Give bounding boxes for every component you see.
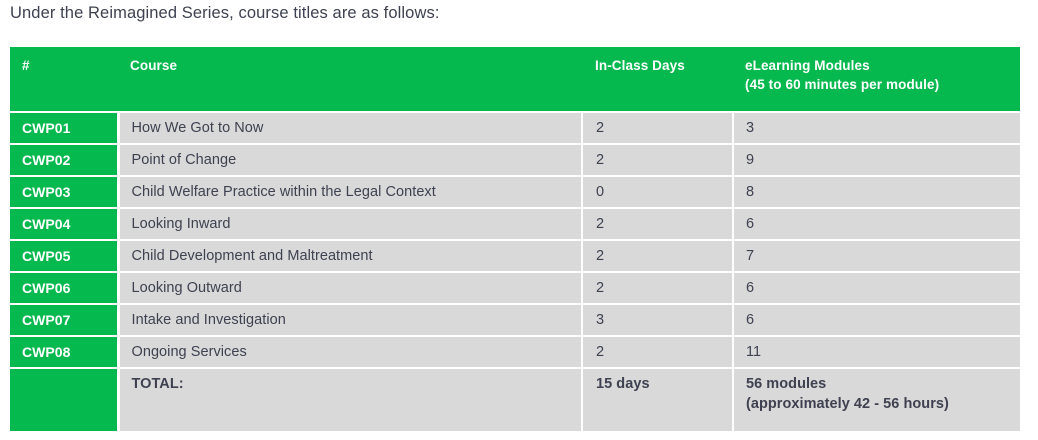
table-row: CWP08 Ongoing Services 2 11	[10, 336, 1020, 368]
column-header-elearning-line2: (45 to 60 minutes per module)	[745, 77, 939, 92]
cell-course-code: CWP03	[10, 176, 118, 208]
cell-course-code: CWP01	[10, 112, 118, 144]
cell-in-class-days: 2	[582, 144, 733, 176]
table-row: CWP06 Looking Outward 2 6	[10, 272, 1020, 304]
course-table: # Course In-Class Days eLearning Modules…	[10, 47, 1020, 431]
cell-course-code: CWP04	[10, 208, 118, 240]
column-header-elearning-modules: eLearning Modules (45 to 60 minutes per …	[733, 47, 1020, 112]
table-total-row: TOTAL: 15 days 56 modules (approximately…	[10, 368, 1020, 431]
cell-course-code: CWP06	[10, 272, 118, 304]
intro-paragraph: Under the Reimagined Series, course titl…	[10, 0, 440, 26]
column-header-elearning-line1: eLearning Modules	[745, 58, 870, 73]
page-root: Under the Reimagined Series, course titl…	[0, 0, 1038, 440]
cell-elearning-modules: 8	[733, 176, 1020, 208]
cell-in-class-days: 3	[582, 304, 733, 336]
cell-total-elearning-modules: 56 modules (approximately 42 - 56 hours)	[733, 368, 1020, 431]
cell-elearning-modules: 9	[733, 144, 1020, 176]
table-header: # Course In-Class Days eLearning Modules…	[10, 47, 1020, 112]
cell-course-code: CWP02	[10, 144, 118, 176]
table-body: CWP01 How We Got to Now 2 3 CWP02 Point …	[10, 112, 1020, 431]
column-header-in-class-days: In-Class Days	[582, 47, 733, 112]
cell-in-class-days: 2	[582, 208, 733, 240]
cell-total-label: TOTAL:	[118, 368, 582, 431]
table-header-row: # Course In-Class Days eLearning Modules…	[10, 47, 1020, 112]
cell-total-code-empty	[10, 368, 118, 431]
total-modules-count: 56 modules	[746, 376, 826, 392]
cell-elearning-modules: 6	[733, 272, 1020, 304]
cell-course-title: Looking Inward	[118, 208, 582, 240]
cell-course-title: Child Development and Maltreatment	[118, 240, 582, 272]
table-row: CWP01 How We Got to Now 2 3	[10, 112, 1020, 144]
table-row: CWP03 Child Welfare Practice within the …	[10, 176, 1020, 208]
table-row: CWP04 Looking Inward 2 6	[10, 208, 1020, 240]
cell-elearning-modules: 6	[733, 208, 1020, 240]
cell-course-title: Looking Outward	[118, 272, 582, 304]
cell-in-class-days: 2	[582, 240, 733, 272]
cell-elearning-modules: 11	[733, 336, 1020, 368]
cell-in-class-days: 2	[582, 272, 733, 304]
cell-course-title: Child Welfare Practice within the Legal …	[118, 176, 582, 208]
table-row: CWP07 Intake and Investigation 3 6	[10, 304, 1020, 336]
cell-course-title: Ongoing Services	[118, 336, 582, 368]
table-row: CWP05 Child Development and Maltreatment…	[10, 240, 1020, 272]
total-modules-hours: (approximately 42 - 56 hours)	[746, 395, 1020, 413]
cell-course-title: How We Got to Now	[118, 112, 582, 144]
table-row: CWP02 Point of Change 2 9	[10, 144, 1020, 176]
cell-in-class-days: 0	[582, 176, 733, 208]
cell-course-title: Intake and Investigation	[118, 304, 582, 336]
column-header-number: #	[10, 47, 118, 112]
cell-elearning-modules: 7	[733, 240, 1020, 272]
cell-course-code: CWP08	[10, 336, 118, 368]
column-header-course: Course	[118, 47, 582, 112]
cell-course-code: CWP07	[10, 304, 118, 336]
cell-elearning-modules: 6	[733, 304, 1020, 336]
cell-total-in-class-days: 15 days	[582, 368, 733, 431]
cell-course-title: Point of Change	[118, 144, 582, 176]
course-table-container: # Course In-Class Days eLearning Modules…	[10, 47, 1020, 431]
cell-course-code: CWP05	[10, 240, 118, 272]
cell-in-class-days: 2	[582, 112, 733, 144]
cell-elearning-modules: 3	[733, 112, 1020, 144]
cell-in-class-days: 2	[582, 336, 733, 368]
